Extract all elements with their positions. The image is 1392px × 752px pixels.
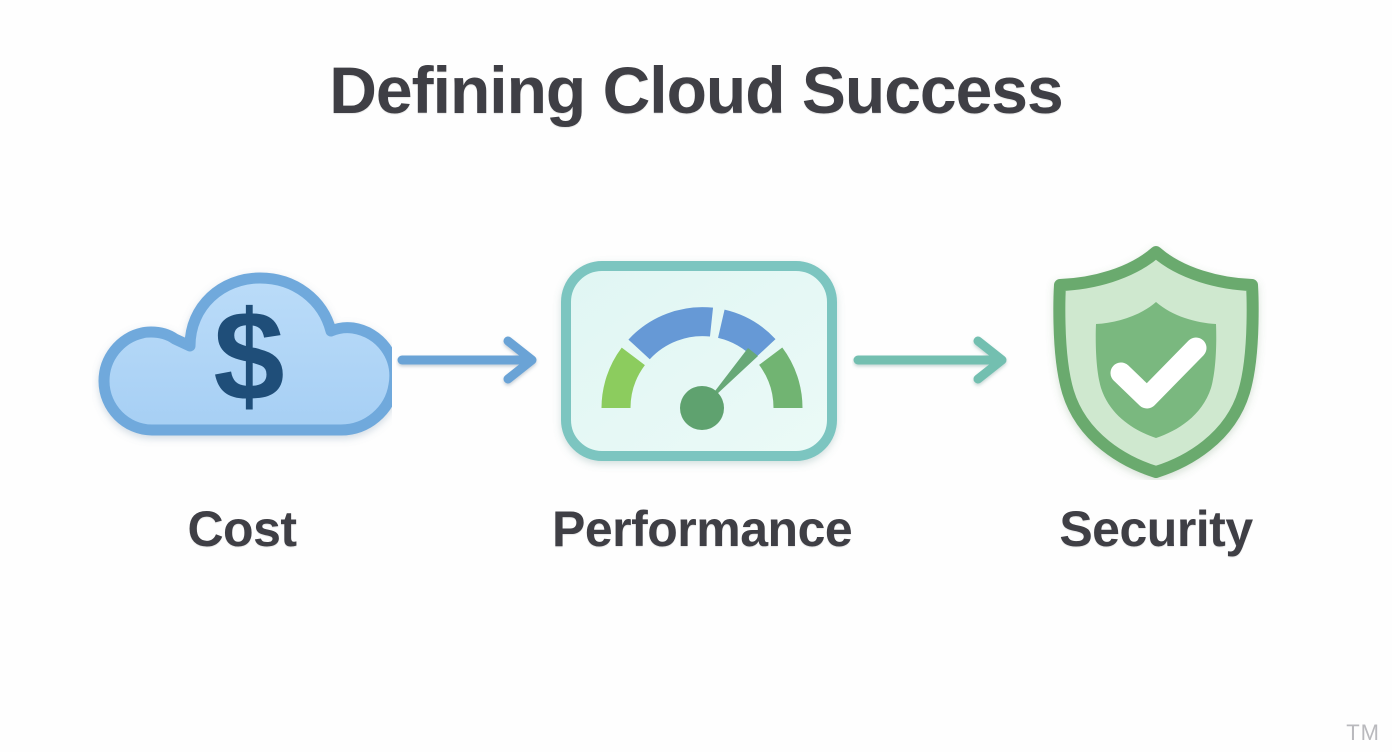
gauge-hub [680,386,724,430]
shield-svg [1006,240,1306,480]
pillar-cost[interactable]: $ [92,240,392,480]
arrow-performance-to-security [852,330,1022,390]
gauge-speedometer-icon [552,240,852,480]
shield-check-icon [1006,240,1306,480]
arrow-cost-to-performance [396,330,566,390]
trademark-mark: TM [1346,720,1380,746]
arrow-right-icon [852,330,1022,390]
pillar-row: $ [0,240,1392,480]
infographic-slide: Defining Cloud Success [0,0,1392,752]
dollar-sign-glyph: $ [213,285,284,428]
pillar-security[interactable] [1006,240,1306,480]
gauge-arc-right-green [771,356,788,408]
page-title: Defining Cloud Success [0,52,1392,128]
pillar-label-performance: Performance [552,500,852,558]
pillar-label-cost: Cost [92,500,392,558]
cloud-dollar-svg: $ [92,240,392,480]
cloud-dollar-icon: $ [92,240,392,480]
pillar-performance[interactable] [552,240,852,480]
gauge-svg [552,240,852,480]
pillar-label-security: Security [1006,500,1306,558]
gauge-arc-left-green [616,356,633,408]
arrow-right-icon [396,330,566,390]
